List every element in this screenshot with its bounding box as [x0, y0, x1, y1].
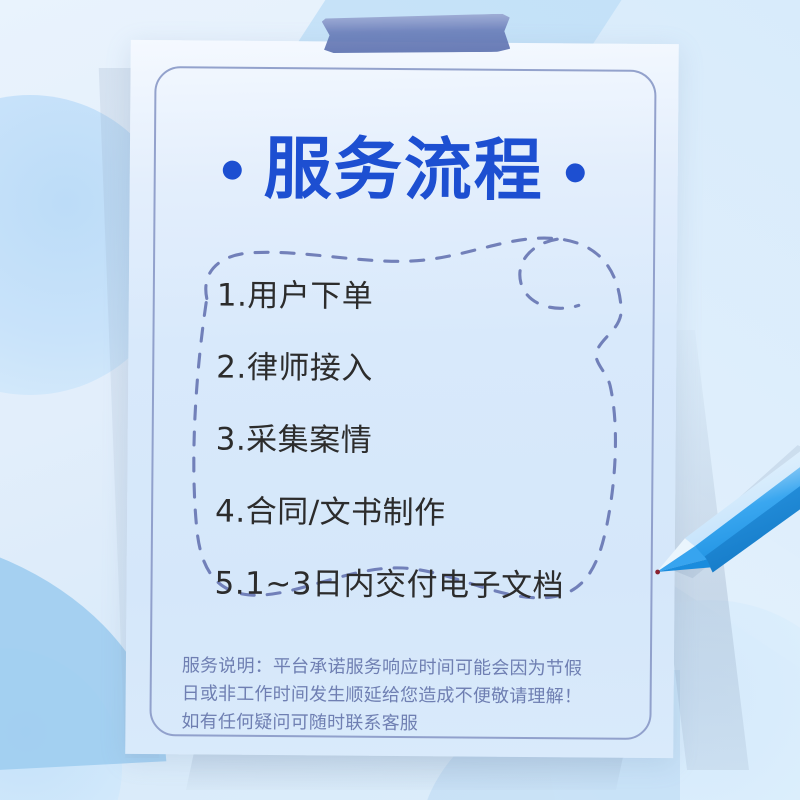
list-item: 4.合同/文书制作: [215, 497, 655, 531]
pencil-icon: [647, 426, 800, 588]
service-flow-poster: 服务流程 1.用户下单 2.律师接入 3.采集案情 4.合同/文书制作 5.1~…: [0, 0, 800, 800]
title-dot-left-icon: [223, 160, 242, 179]
paper-shadow-bottom: [186, 752, 624, 790]
service-note-line: 如有任何疑问可随时联系客服: [181, 708, 633, 739]
title-text: 服务流程: [264, 136, 545, 206]
service-note-line: 日或非工作时间发生顺延给您造成不便敬请理解！: [182, 680, 634, 711]
circle-left-bottom-shape: [0, 648, 122, 800]
page-title: 服务流程: [130, 135, 679, 207]
service-note: 服务说明：平台承诺服务响应时间可能会因为节假 日或非工作时间发生顺延给您造成不便…: [181, 652, 634, 739]
paper-card: 服务流程 1.用户下单 2.律师接入 3.采集案情 4.合同/文书制作 5.1~…: [125, 40, 679, 758]
list-item: 3.采集案情: [216, 425, 656, 459]
list-item: 1.用户下单: [217, 281, 657, 315]
tape-strip: [322, 14, 511, 55]
tape-sheen: [322, 14, 510, 33]
service-note-line: 服务说明：平台承诺服务响应时间可能会因为节假: [182, 652, 634, 683]
steps-list: 1.用户下单 2.律师接入 3.采集案情 4.合同/文书制作 5.1~3日内交付…: [214, 281, 656, 603]
list-item: 5.1~3日内交付电子文档: [214, 569, 654, 603]
list-item: 2.律师接入: [216, 353, 656, 387]
title-dot-right-icon: [566, 163, 585, 182]
